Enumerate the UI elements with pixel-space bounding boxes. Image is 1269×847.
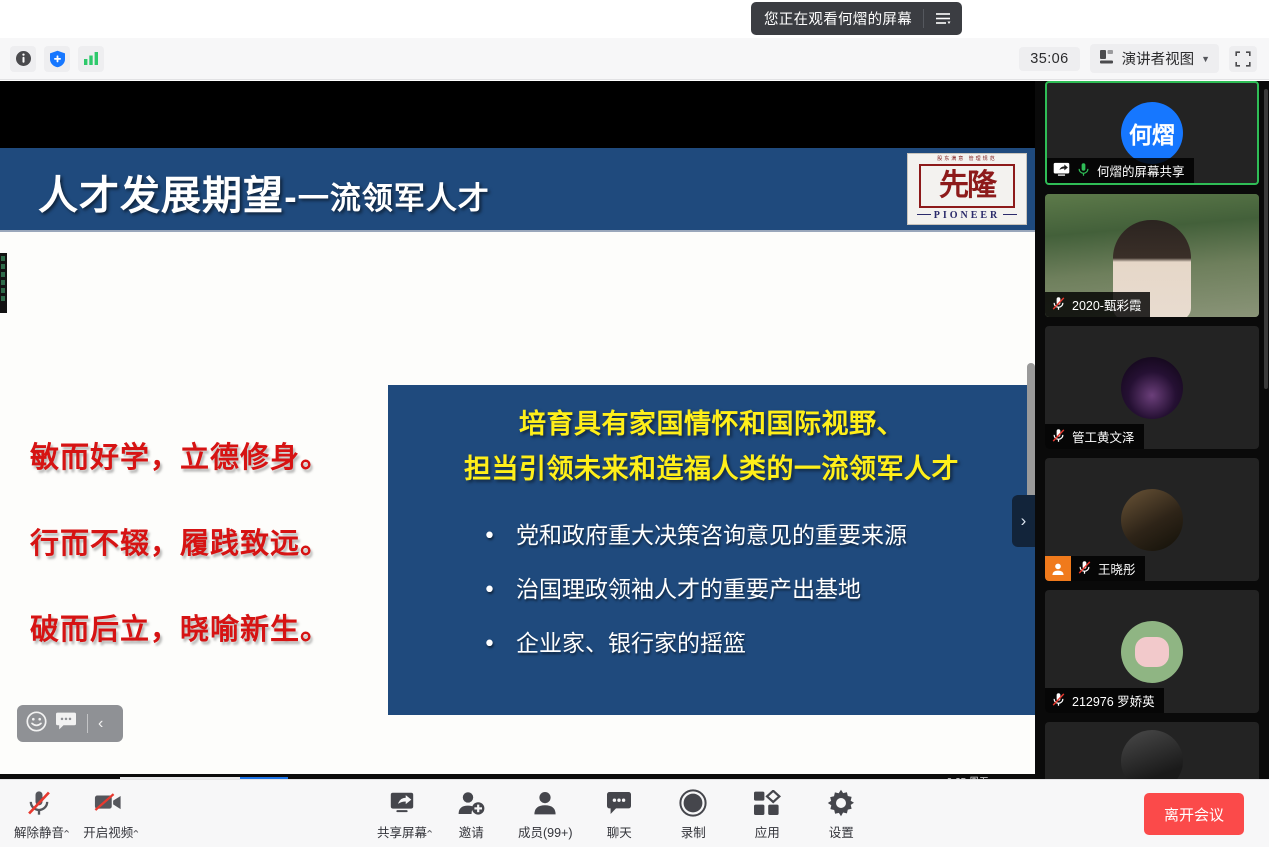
view-mode-label: 演讲者视图	[1122, 48, 1195, 69]
avatar: 何熠	[1121, 102, 1183, 164]
participant-name: 王晓彤	[1098, 559, 1136, 578]
control-label: 设置	[829, 822, 854, 841]
avatar	[1121, 730, 1183, 779]
meeting-header-bar: 35:06 演讲者视图 ▼	[0, 38, 1269, 80]
bullet-dot-icon: •	[483, 580, 496, 602]
top-tooltip-strip: 您正在观看何熠的屏幕	[0, 0, 1269, 38]
mic-muted-icon	[25, 789, 53, 817]
participant-tile[interactable]: 管工黄文泽	[1045, 326, 1259, 449]
chevron-down-icon: ▼	[1201, 54, 1210, 64]
annotation-divider	[87, 714, 88, 733]
list-menu-icon[interactable]	[924, 2, 962, 35]
pig-avatar-art	[1135, 637, 1169, 667]
participant-name-tag: 管工黄文泽	[1045, 424, 1144, 449]
bullet-text: 治国理政领袖人才的重要产出基地	[516, 563, 861, 617]
chevron-up-icon[interactable]: ⌃	[131, 828, 140, 841]
control-label: 录制	[681, 822, 706, 841]
record-icon	[679, 789, 707, 817]
apps-grid-icon	[753, 789, 781, 817]
panel-headline-line: 担当引领未来和造福人类的一流领军人才	[388, 447, 1035, 492]
participant-tile[interactable]: 2020-甄彩霞	[1045, 194, 1259, 317]
avatar	[1121, 489, 1183, 551]
slide-title: 人才发展期望-一流领军人才	[38, 163, 490, 221]
chevron-up-icon[interactable]: ⌃	[425, 828, 434, 841]
slide-header: 人才发展期望-一流领军人才 股东满意 管理规范 先隆 PIONEER	[0, 148, 1035, 232]
gear-icon	[827, 789, 855, 817]
annotation-toolbar[interactable]: ‹	[17, 705, 123, 742]
participant-tile[interactable]: 王晓彤	[1045, 458, 1259, 581]
viewing-screen-label: 您正在观看何熠的屏幕	[751, 2, 923, 35]
chevron-up-icon[interactable]: ⌃	[62, 828, 71, 841]
logo-rule-left	[917, 214, 931, 215]
participant-rail[interactable]: 何熠何熠的屏幕共享2020-甄彩霞管工黄文泽王晓彤212976 罗娇英	[1035, 81, 1269, 779]
participant-name-tag: 212976 罗娇英	[1045, 688, 1164, 713]
control-group-center: 共享屏幕⌃邀请成员(99+)聊天录制应用设置	[365, 780, 878, 841]
control-label: 聊天	[607, 822, 632, 841]
panel-headline-line: 培育具有家国情怀和国际视野、	[388, 402, 1035, 447]
panel-bullet-item: • 治国理政领袖人才的重要产出基地	[483, 563, 1035, 617]
control-label: 解除静音	[14, 822, 64, 841]
participant-name-tag: 2020-甄彩霞	[1045, 292, 1150, 317]
bullet-text: 企业家、银行家的摇篮	[516, 617, 746, 671]
tencent-meeting-window: 您正在观看何熠的屏幕 35:06 演讲者视	[0, 0, 1269, 847]
couplet-line: 敏而好学，立德修身。	[30, 434, 380, 476]
mic-muted-icon	[1051, 692, 1066, 710]
invite-user-icon	[457, 789, 485, 817]
participant-tile[interactable]: 212976 罗娇英	[1045, 590, 1259, 713]
control-label: 成员(99+)	[518, 822, 573, 841]
logo-wordmark: PIONEER	[934, 210, 1001, 221]
collapse-chevron-icon[interactable]: ‹	[98, 715, 103, 733]
meeting-control-bar: 解除静音⌃开启视频⌃ 共享屏幕⌃邀请成员(99+)聊天录制应用设置 离开会议	[0, 779, 1269, 847]
control-members[interactable]: 成员(99+)	[508, 780, 582, 841]
pioneer-logo: 股东满意 管理规范 先隆 PIONEER	[907, 153, 1027, 225]
leave-meeting-button[interactable]: 离开会议	[1144, 793, 1244, 835]
control-record[interactable]: 录制	[656, 780, 730, 841]
participant-tile[interactable]: 何熠何熠的屏幕共享	[1045, 81, 1259, 185]
bullet-text: 党和政府重大决策咨询意见的重要来源	[516, 509, 907, 563]
bullet-dot-icon: •	[483, 634, 496, 656]
participant-name: 2020-甄彩霞	[1072, 295, 1141, 314]
rail-scrollbar[interactable]	[1264, 89, 1268, 389]
participant-name: 212976 罗娇英	[1072, 691, 1155, 710]
security-shield-icon[interactable]	[44, 46, 70, 72]
mic-muted-icon	[1051, 428, 1066, 446]
panel-bullet-item: • 企业家、银行家的摇篮	[483, 617, 1035, 671]
chat-bubble-icon[interactable]	[55, 712, 77, 736]
screen-share-icon	[1053, 162, 1070, 179]
logo-rule-right	[1003, 214, 1017, 215]
meeting-timer: 35:06	[1019, 47, 1079, 71]
presentation-slide: 人才发展期望-一流领军人才 股东满意 管理规范 先隆 PIONEER 敏而好学，…	[0, 148, 1035, 779]
shared-screen-stage: 人才发展期望-一流领军人才 股东满意 管理规范 先隆 PIONEER 敏而好学，…	[0, 81, 1035, 779]
header-right-controls: 35:06 演讲者视图 ▼	[1019, 44, 1269, 73]
meeting-info-icon[interactable]	[10, 46, 36, 72]
control-label: 开启视频	[83, 822, 133, 841]
expand-panel-chevron-icon[interactable]: ›	[1012, 495, 1035, 547]
participant-tile[interactable]	[1045, 722, 1259, 779]
emoji-icon[interactable]	[26, 711, 47, 737]
control-apps-grid[interactable]: 应用	[730, 780, 804, 841]
avatar	[1121, 621, 1183, 683]
layout-icon	[1099, 49, 1115, 68]
couplet-line: 破而后立，晓喻新生。	[30, 606, 380, 648]
control-chat[interactable]: 聊天	[582, 780, 656, 841]
control-label: 共享屏幕	[377, 822, 427, 841]
control-gear[interactable]: 设置	[804, 780, 878, 841]
camera-off-icon	[94, 789, 122, 817]
header-left-icons	[0, 46, 104, 72]
host-badge	[1045, 556, 1071, 581]
slide-blue-panel: 培育具有家国情怀和国际视野、 担当引领未来和造福人类的一流领军人才 • 党和政府…	[388, 385, 1035, 715]
members-icon	[531, 789, 559, 817]
control-invite-user[interactable]: 邀请	[434, 780, 508, 841]
fullscreen-icon[interactable]	[1229, 46, 1257, 72]
couplet-line: 行而不辍，履践致远。	[30, 520, 380, 562]
couplet-column: 敏而好学，立德修身。 行而不辍，履践致远。 破而后立，晓喻新生。	[30, 434, 380, 692]
participant-name-tag: 何熠的屏幕共享	[1047, 158, 1194, 183]
mic-on-icon	[1076, 162, 1091, 180]
panel-bullet-item: • 党和政府重大决策咨询意见的重要来源	[483, 509, 1035, 563]
slide-edge-strip	[0, 253, 7, 313]
logo-wordmark-line: PIONEER	[917, 208, 1018, 221]
mic-muted-icon	[1051, 296, 1066, 314]
logo-mark-text: 先隆	[919, 164, 1015, 208]
mic-muted-icon	[1077, 560, 1092, 578]
participant-name: 何熠的屏幕共享	[1097, 161, 1185, 180]
panel-bullet-list: • 党和政府重大决策咨询意见的重要来源 • 治国理政领袖人才的重要产出基地 • …	[388, 509, 1035, 671]
logo-top-text: 股东满意 管理规范	[937, 156, 996, 163]
slide-title-main: 人才发展期望	[38, 173, 284, 219]
control-label: 邀请	[459, 822, 484, 841]
chat-icon	[605, 789, 633, 817]
bullet-dot-icon: •	[483, 526, 496, 548]
avatar	[1121, 357, 1183, 419]
network-signal-icon[interactable]	[78, 46, 104, 72]
viewing-screen-tooltip: 您正在观看何熠的屏幕	[751, 2, 962, 35]
control-group-left: 解除静音⌃开启视频⌃	[2, 780, 140, 841]
panel-headline: 培育具有家国情怀和国际视野、 担当引领未来和造福人类的一流领军人才	[388, 385, 1035, 492]
participant-name: 管工黄文泽	[1072, 427, 1135, 446]
view-mode-selector[interactable]: 演讲者视图 ▼	[1090, 44, 1219, 73]
screen-share-icon	[388, 789, 416, 817]
slide-title-sub: -一流领军人才	[284, 181, 490, 217]
control-label: 应用	[755, 822, 780, 841]
